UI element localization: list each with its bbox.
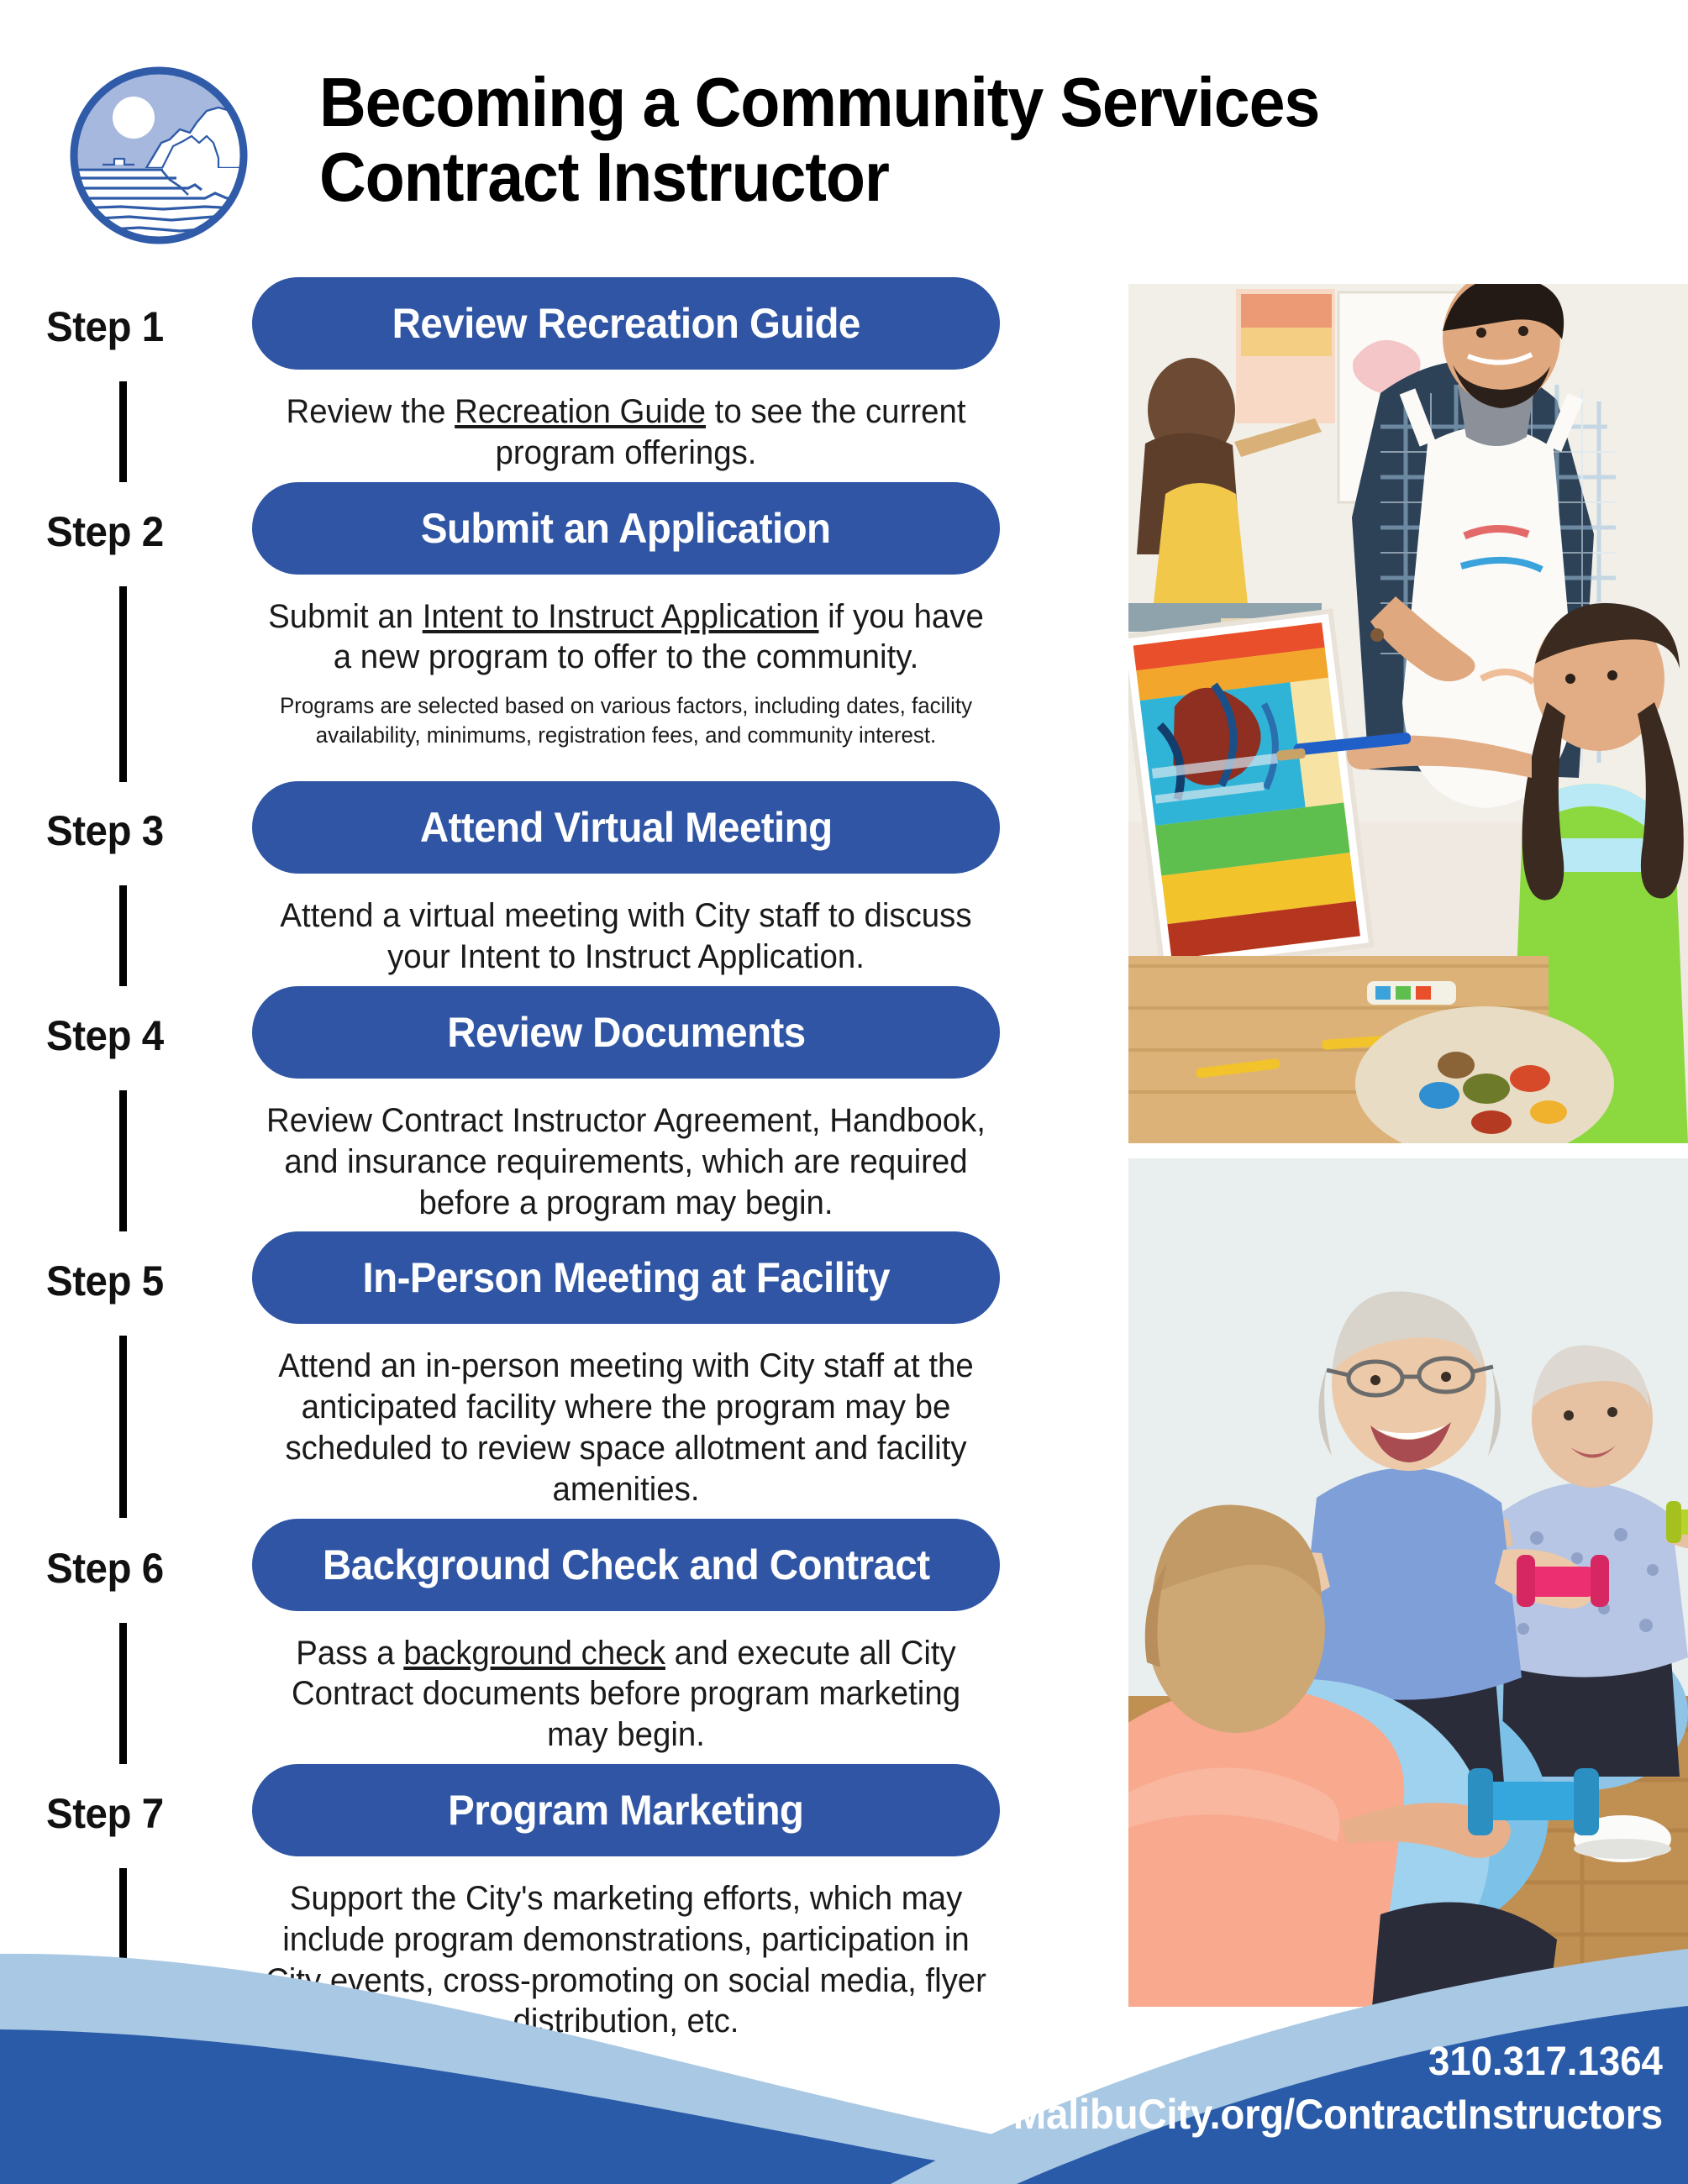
step-title-text: In-Person Meeting at Facility [362,1253,889,1302]
step-description-pre: Review Contract Instructor Agreement, Ha… [266,1102,986,1221]
step-item: Step 2Submit an ApplicationSubmit an Int… [0,482,1117,782]
step-body: Attend an in-person meeting with City st… [0,1331,1117,1518]
step-body: Review the Recreation Guide to see the c… [0,376,1117,482]
step-description: Attend a virtual meeting with City staff… [263,895,989,978]
step-header-row: Step 4Review Documents [0,986,1117,1085]
step-header-row: Step 5In-Person Meeting at Facility [0,1231,1117,1331]
step-header-row: Step 2Submit an Application [0,482,1117,581]
footer-contact: 310.317.1364 MalibuCity.org/ContractInst… [979,2039,1663,2139]
step-title-text: Review Documents [447,1008,805,1057]
step-header-row: Step 1Review Recreation Guide [0,277,1117,376]
step-connector-line [119,885,127,986]
poster-header: Becoming a Community Services Contract I… [0,0,1688,277]
step-description: Review Contract Instructor Agreement, Ha… [263,1100,989,1223]
step-connector-line [119,381,127,482]
step-connector-line [119,586,127,782]
steps-list: Step 1Review Recreation GuideReview the … [0,277,1117,2050]
step-title-text: Background Check and Contract [323,1541,929,1589]
step-title-pill[interactable]: Background Check and Contract [252,1519,1000,1611]
step-number-label: Step 2 [46,507,164,556]
step-description-pre: Pass a [296,1635,403,1672]
step-description-link[interactable]: Intent to Instruct Application [423,598,819,635]
step-body: Attend a virtual meeting with City staff… [0,880,1117,986]
step-description-pre: Review the [287,393,455,430]
step-description-link[interactable]: Recreation Guide [455,393,706,430]
step-number-label: Step 5 [46,1257,164,1305]
step-body: Review Contract Instructor Agreement, Ha… [0,1085,1117,1231]
step-number-label: Step 6 [46,1544,164,1593]
poster-page: Becoming a Community Services Contract I… [0,0,1688,2184]
step-item: Step 3Attend Virtual MeetingAttend a vir… [0,781,1117,986]
step-header-row: Step 3Attend Virtual Meeting [0,781,1117,880]
step-connector-line [119,1090,127,1231]
page-title: Becoming a Community Services Contract I… [319,66,1630,215]
page-title-line-1: Becoming a Community Services [319,66,1538,140]
art-class-photo [1128,284,1688,1143]
step-description: Submit an Intent to Instruct Application… [263,596,989,679]
step-number-label: Step 3 [46,806,164,855]
step-item: Step 6Background Check and ContractPass … [0,1519,1117,1764]
step-connector-line [119,1623,127,1764]
step-description-pre: Submit an [268,598,423,635]
step-title-pill[interactable]: In-Person Meeting at Facility [252,1231,1000,1324]
step-item: Step 1Review Recreation GuideReview the … [0,277,1117,482]
step-number-label: Step 1 [46,302,164,351]
step-description-pre: Attend an in-person meeting with City st… [278,1347,973,1507]
step-description: Attend an in-person meeting with City st… [263,1346,989,1509]
step-title-text: Review Recreation Guide [392,299,860,348]
step-title-pill[interactable]: Attend Virtual Meeting [252,781,1000,874]
step-description: Review the Recreation Guide to see the c… [263,391,989,474]
step-header-row: Step 6Background Check and Contract [0,1519,1117,1618]
step-title-text: Attend Virtual Meeting [420,803,833,852]
step-title-pill[interactable]: Review Documents [252,986,1000,1079]
phone-number[interactable]: 310.317.1364 [1013,2039,1663,2085]
city-of-malibu-seal-icon [62,59,255,252]
poster-footer: 310.317.1364 MalibuCity.org/ContractInst… [0,1823,1688,2184]
step-body: Submit an Intent to Instruct Application… [0,581,1117,782]
step-note: Programs are selected based on various f… [263,691,989,750]
step-description-link[interactable]: background check [403,1635,665,1672]
photo-column [1128,284,1688,2007]
step-title-pill[interactable]: Submit an Application [252,482,1000,575]
step-description: Pass a background check and execute all … [263,1633,989,1756]
step-number-label: Step 4 [46,1011,164,1060]
step-description-pre: Attend a virtual meeting with City staff… [280,897,971,975]
step-body: Pass a background check and execute all … [0,1618,1117,1764]
step-item: Step 4Review DocumentsReview Contract In… [0,986,1117,1231]
page-title-line-2: Contract Instructor [319,140,1538,215]
step-item: Step 5In-Person Meeting at FacilityAtten… [0,1231,1117,1518]
step-title-text: Submit an Application [421,504,831,553]
step-connector-line [119,1336,127,1518]
step-title-pill[interactable]: Review Recreation Guide [252,277,1000,370]
website-url[interactable]: MalibuCity.org/ContractInstructors [1013,2090,1663,2139]
